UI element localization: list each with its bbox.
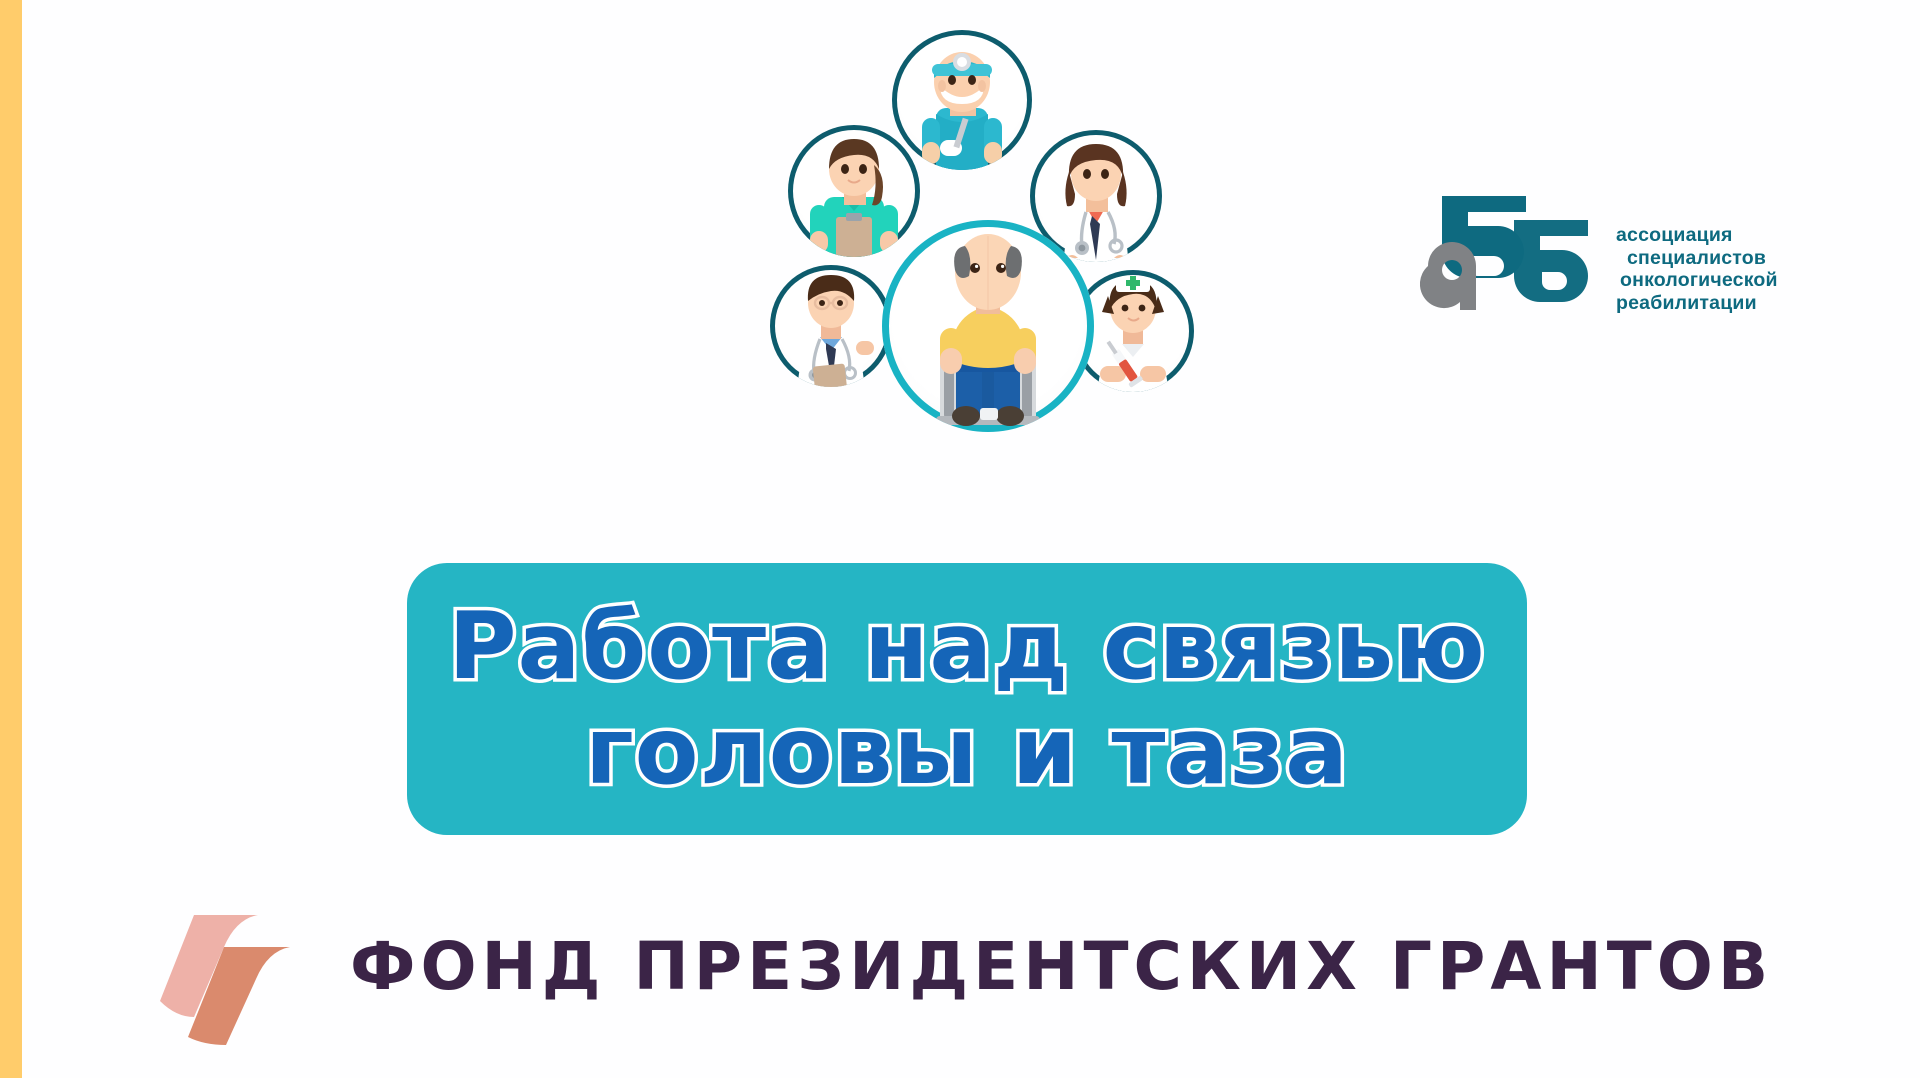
- fund-name: ФОНД ПРЕЗИДЕНТСКИХ ГРАНТОВ: [350, 927, 1773, 1007]
- assoc-line-3: онкологической: [1616, 269, 1856, 292]
- association-logo: ассоциация специалистов онкологической р…: [1420, 180, 1850, 310]
- title-line-1: Работа над связью: [448, 594, 1485, 699]
- assoc-line-2: специалистов: [1616, 247, 1856, 270]
- title-line-2: головы и таза: [585, 699, 1349, 804]
- node-male-doctor: [770, 265, 892, 387]
- title-banner: Работа над связью головы и таза: [407, 563, 1527, 835]
- male-doctor-icon: [770, 265, 892, 387]
- association-name: ассоциация специалистов онкологической р…: [1616, 224, 1856, 314]
- assoc-line-4: реабилитации: [1616, 292, 1856, 315]
- node-patient-wheelchair: [882, 220, 1094, 432]
- slide-canvas: ассоциация специалистов онкологической р…: [0, 0, 1920, 1078]
- patient-wheelchair-icon: [882, 220, 1094, 432]
- fund-mark-icon: [150, 905, 310, 1045]
- presidential-grants-fund-logo: ФОНД ПРЕЗИДЕНТСКИХ ГРАНТОВ: [150, 905, 1750, 1045]
- asor-monogram-icon: [1420, 180, 1610, 310]
- medical-team-illustration: [700, 20, 1240, 540]
- left-accent-stripe: [0, 0, 22, 1078]
- assoc-line-1: ассоциация: [1616, 224, 1856, 247]
